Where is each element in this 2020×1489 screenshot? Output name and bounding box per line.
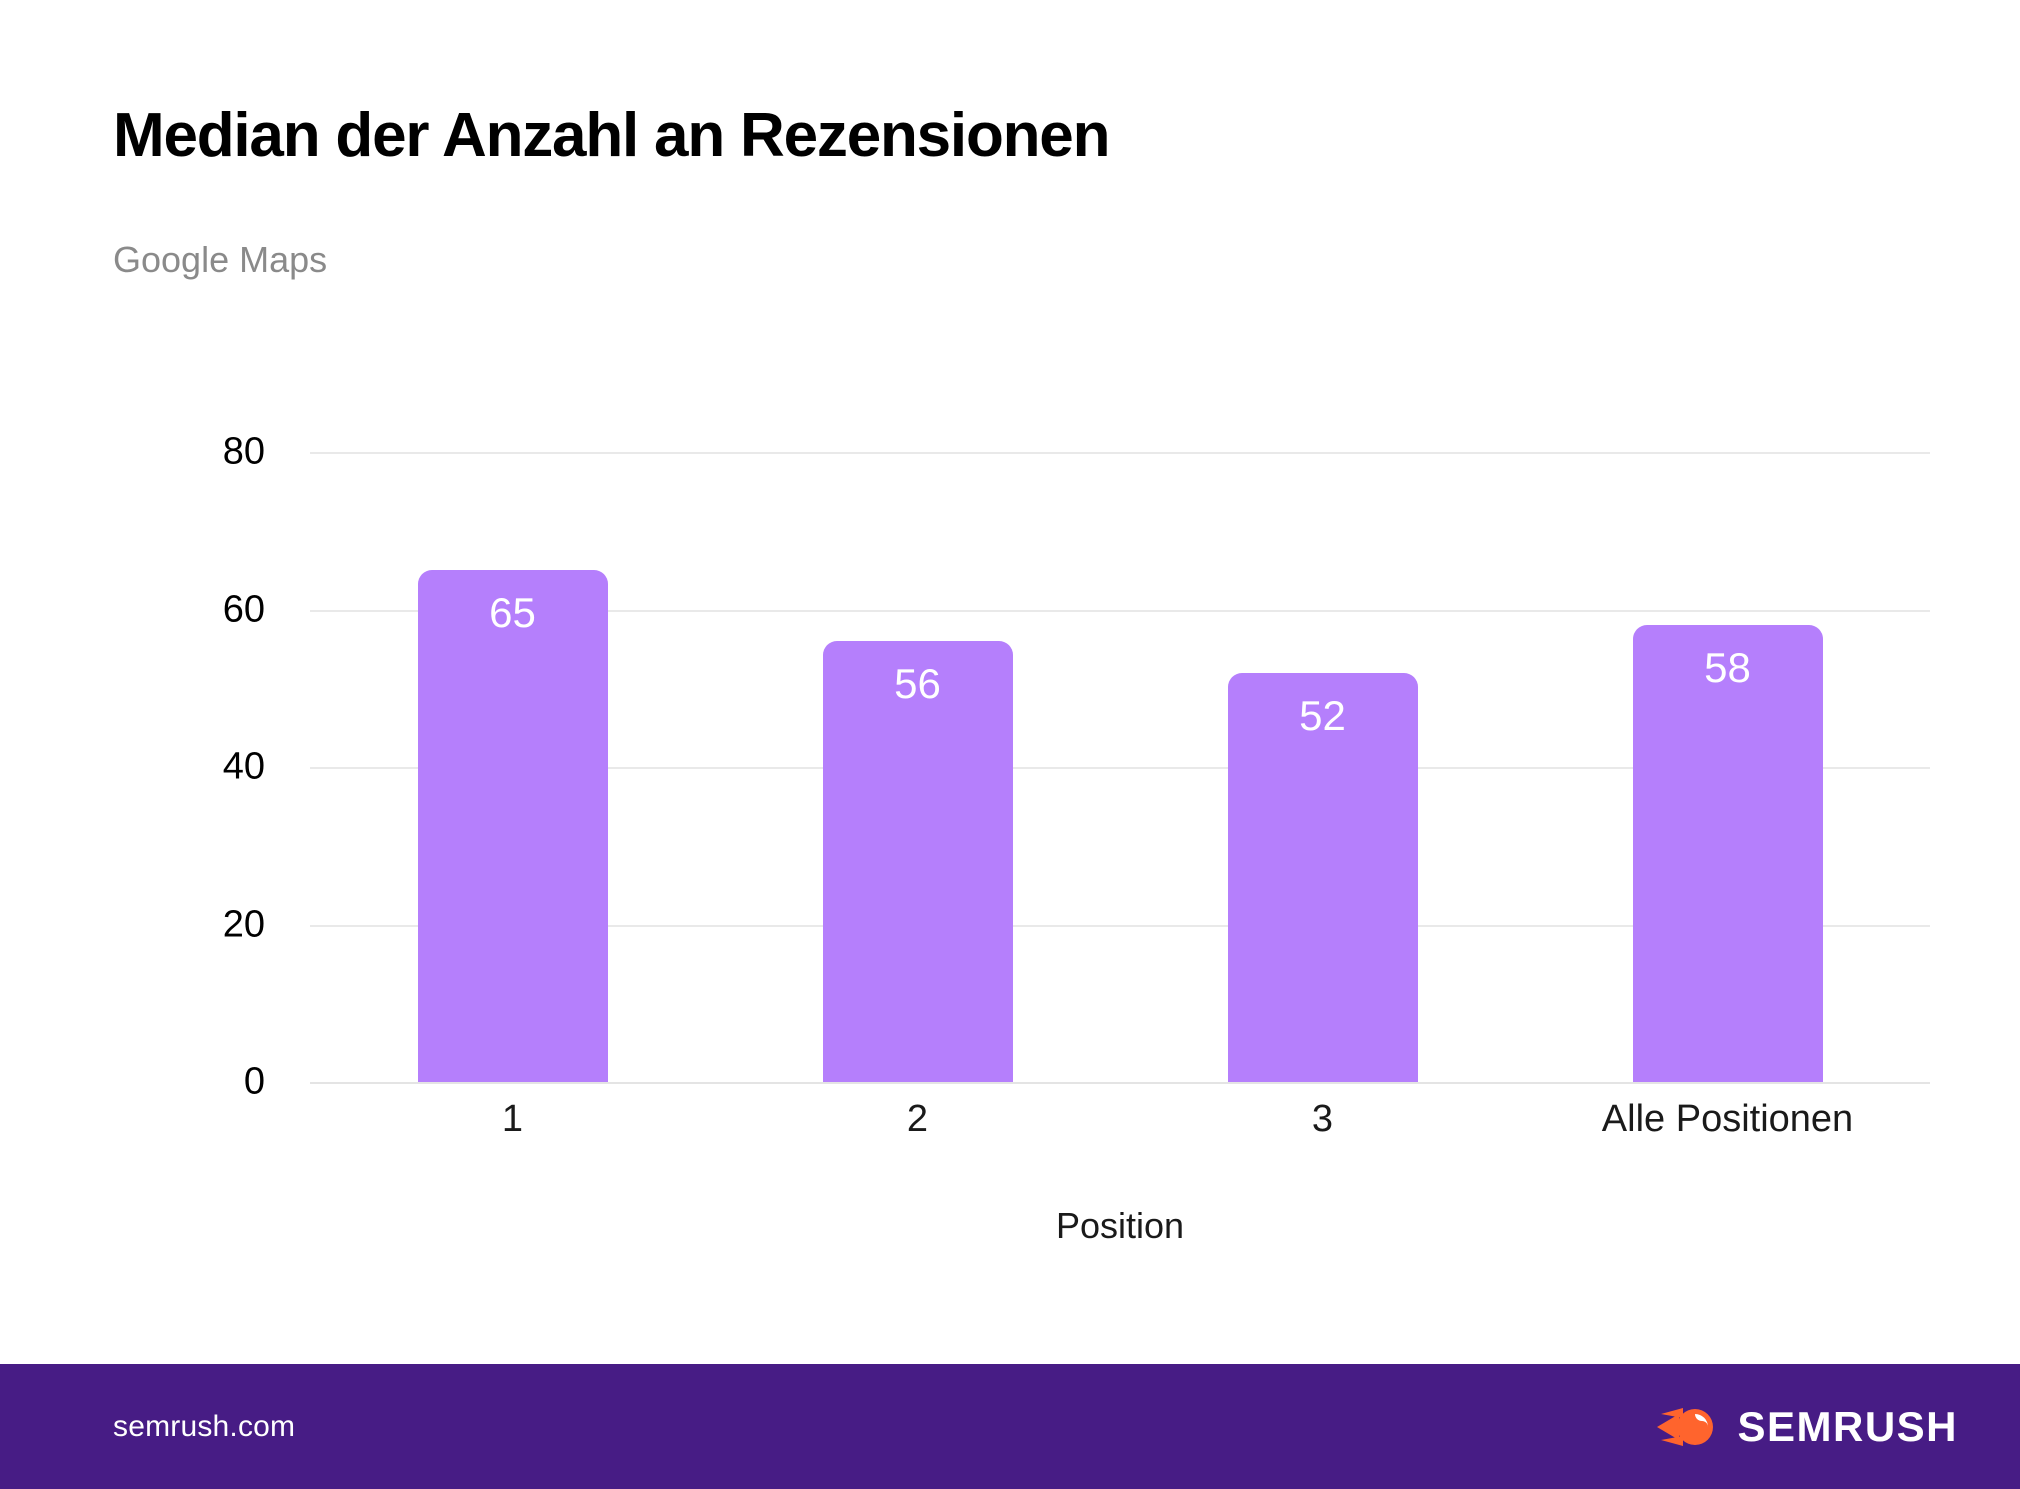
y-axis-tick-0: 0 [65, 1061, 265, 1104]
footer-bar: semrush.com SEMRUSH [0, 1364, 2020, 1489]
bar-value-label: 65 [418, 592, 608, 634]
x-axis-labels: 123Alle Positionen [310, 1098, 1930, 1141]
x-axis-tick: 2 [715, 1098, 1120, 1141]
bar-slot: 58 [1525, 452, 1930, 1082]
bar-series: 65565258 [310, 452, 1930, 1082]
bar-value-label: 56 [823, 663, 1013, 705]
bar[interactable]: 56 [823, 641, 1013, 1082]
bar-slot: 52 [1120, 452, 1525, 1082]
footer-url[interactable]: semrush.com [113, 1410, 295, 1444]
y-axis-tick-20: 20 [65, 903, 265, 946]
bar[interactable]: 58 [1633, 625, 1823, 1082]
x-axis-title: Position [310, 1205, 1930, 1247]
page-title: Median der Anzahl an Rezensionen [113, 103, 1109, 168]
bar[interactable]: 65 [418, 570, 608, 1082]
bar[interactable]: 52 [1228, 673, 1418, 1083]
bar-slot: 65 [310, 452, 715, 1082]
semrush-wordmark: SEMRUSH [1737, 1403, 1958, 1451]
x-axis-tick: 3 [1120, 1098, 1525, 1141]
x-axis-tick: 1 [310, 1098, 715, 1141]
x-axis-tick: Alle Positionen [1525, 1098, 1930, 1141]
chart-subtitle: Google Maps [113, 240, 327, 280]
bar-value-label: 52 [1228, 695, 1418, 737]
bar-value-label: 58 [1633, 647, 1823, 689]
y-axis-tick-40: 40 [65, 746, 265, 789]
y-axis-tick-80: 80 [65, 431, 265, 474]
y-axis-labels: 806040200 [85, 452, 265, 1082]
gridline-0 [310, 1082, 1930, 1084]
comet-icon [1657, 1404, 1719, 1450]
y-axis-tick-60: 60 [65, 588, 265, 631]
bar-slot: 56 [715, 452, 1120, 1082]
chart-page: Median der Anzahl an Rezensionen Google … [0, 0, 2020, 1489]
semrush-logo[interactable]: SEMRUSH [1657, 1403, 1958, 1451]
